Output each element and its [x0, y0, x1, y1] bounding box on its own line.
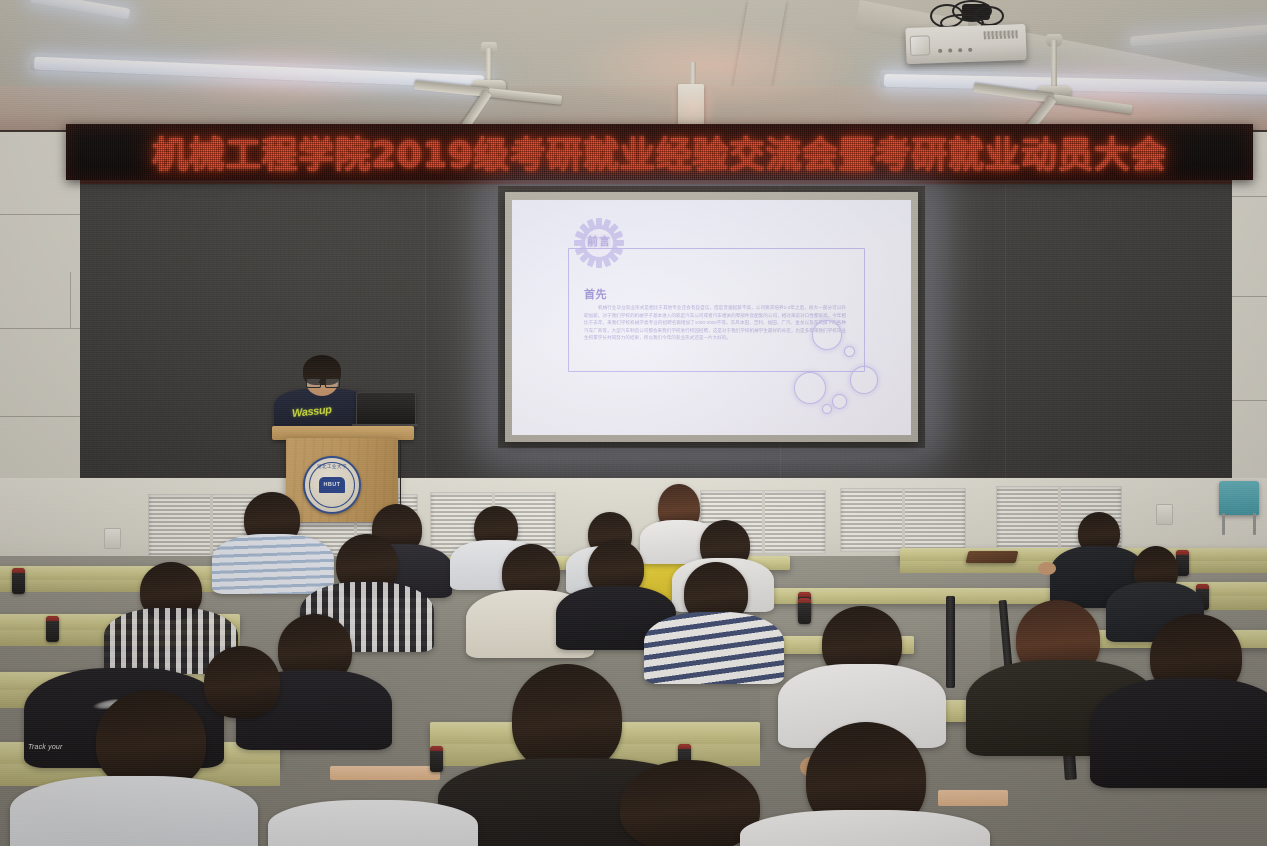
glasses-lens-left — [306, 378, 321, 388]
audience-head — [96, 690, 206, 790]
bench-desk-face — [0, 580, 244, 592]
audience-torso — [1090, 678, 1267, 788]
ceiling-box-stem — [690, 62, 696, 86]
audience-head — [620, 760, 760, 846]
projector-lens — [910, 35, 931, 56]
projection-screen: 前言 首先 机械行业毕业就业形式是相比于其他专业还会有些自信，但是普遍起薪不高，… — [512, 200, 911, 435]
bench-leg — [946, 596, 955, 688]
decor-bubble — [812, 320, 842, 350]
audience-torso — [644, 612, 784, 684]
audience-head — [512, 664, 622, 772]
audience-torso — [212, 534, 334, 594]
glasses-bridge — [319, 381, 326, 383]
decor-bubble — [832, 394, 847, 409]
emblem-chinese-name: 湖北工业大学 — [305, 464, 359, 470]
decor-bubble — [822, 404, 832, 414]
bench-hook — [12, 568, 25, 594]
teal-chair[interactable] — [1219, 481, 1259, 515]
led-banner: 机械工程学院2019级考研就业经验交流会暨考研就业动员大会 — [66, 124, 1253, 180]
glasses-lens-right — [325, 378, 340, 388]
tee-text: Track your — [28, 744, 63, 751]
ceiling-speaker-box — [678, 84, 704, 126]
audience-torso — [268, 800, 478, 846]
left-wall-panel — [0, 132, 88, 484]
slide-badge-label: 前言 — [574, 233, 624, 249]
teal-chair-legs — [1222, 513, 1256, 535]
university-emblem: 湖北工业大学 HBUT — [303, 456, 361, 514]
bench-hook — [46, 616, 59, 642]
ceiling-projector — [905, 24, 1026, 64]
decor-bubble — [844, 346, 855, 357]
lecture-hall-photo: 机械工程学院2019级考研就业经验交流会暨考研就业动员大会 — [0, 0, 1267, 846]
wall-vent-panel — [840, 488, 966, 552]
notebook[interactable] — [966, 551, 1019, 563]
slide-body-text: 机械行业毕业就业形式是相比于其他专业还会有些自信，但是普遍起薪不高，公司要求培养… — [584, 304, 846, 342]
audience-torso — [10, 776, 258, 846]
laptop-screen[interactable] — [356, 392, 416, 427]
projector-vent — [984, 30, 1018, 39]
bench-desk-warm-edge — [938, 790, 1008, 806]
wall-outlet[interactable] — [1156, 504, 1173, 525]
decor-bubble — [794, 372, 826, 404]
bench-hook — [798, 598, 811, 624]
audience-hand — [1038, 562, 1056, 575]
bench-desk-warm-edge — [330, 766, 440, 780]
slide-heading: 首先 — [584, 286, 607, 302]
decor-bubble — [850, 366, 878, 394]
wall-outlet[interactable] — [104, 528, 121, 549]
led-banner-text: 机械工程学院2019级考研就业经验交流会暨考研就业动员大会 — [66, 126, 1253, 178]
emblem-abbr: HBUT — [305, 482, 359, 488]
ceiling-fan-1 — [488, 48, 490, 82]
audience-torso — [740, 810, 990, 846]
ceiling-fan-2 — [1053, 40, 1055, 88]
bench-hook — [430, 746, 443, 772]
audience-head — [204, 646, 280, 718]
